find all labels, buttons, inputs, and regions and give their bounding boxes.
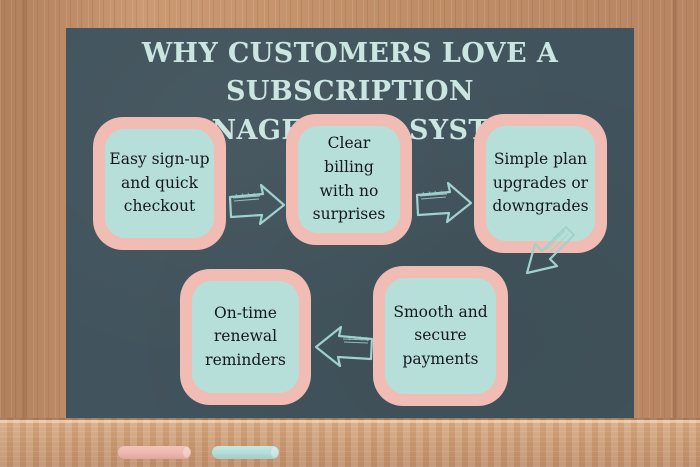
flow-node-easy-signup[interactable]: Easy sign-up and quick checkout [93,117,226,250]
arrow-left-icon [310,321,376,375]
flow-node-label: On-time renewal reminders [201,302,290,373]
ledge-highlight [0,420,700,423]
arrow-down-left-icon [516,221,580,287]
frame-left-seam [22,0,27,467]
chalk-ledge [0,418,700,467]
flow-node-secure-payments[interactable]: Smooth and secure payments [373,266,508,406]
flow-node-inner: Clear billing with no surprises [298,126,400,233]
flow-node-label: Smooth and secure payments [389,301,491,372]
flow-node-inner: Smooth and secure payments [385,278,496,394]
frame-right-seam [673,0,678,467]
flow-node-label: Clear billing with no surprises [298,132,400,226]
page-title-line-1: WHY CUSTOMERS LOVE A SUBSCRIPTION [86,35,614,112]
flow-node-inner: Easy sign-up and quick checkout [105,129,214,238]
arrow-right-icon [413,178,475,230]
chalk-stick-mint[interactable] [212,446,279,459]
arrow-right-icon [226,180,288,232]
chalk-stick-pink[interactable] [118,446,191,459]
chalk-tip [271,447,278,458]
flow-node-label: Easy sign-up and quick checkout [105,148,213,219]
chalkboard-surface: WHY CUSTOMERS LOVE A SUBSCRIPTION MANAGE… [66,28,634,420]
flow-node-inner: On-time renewal reminders [192,281,299,393]
flow-node-label: Simple plan upgrades or downgrades [488,148,592,219]
flow-node-clear-billing[interactable]: Clear billing with no surprises [286,114,412,245]
chalk-tip [183,447,190,458]
flow-node-renewal-reminders[interactable]: On-time renewal reminders [180,269,311,405]
infographic-chalkboard-scene: WHY CUSTOMERS LOVE A SUBSCRIPTION MANAGE… [0,0,700,467]
